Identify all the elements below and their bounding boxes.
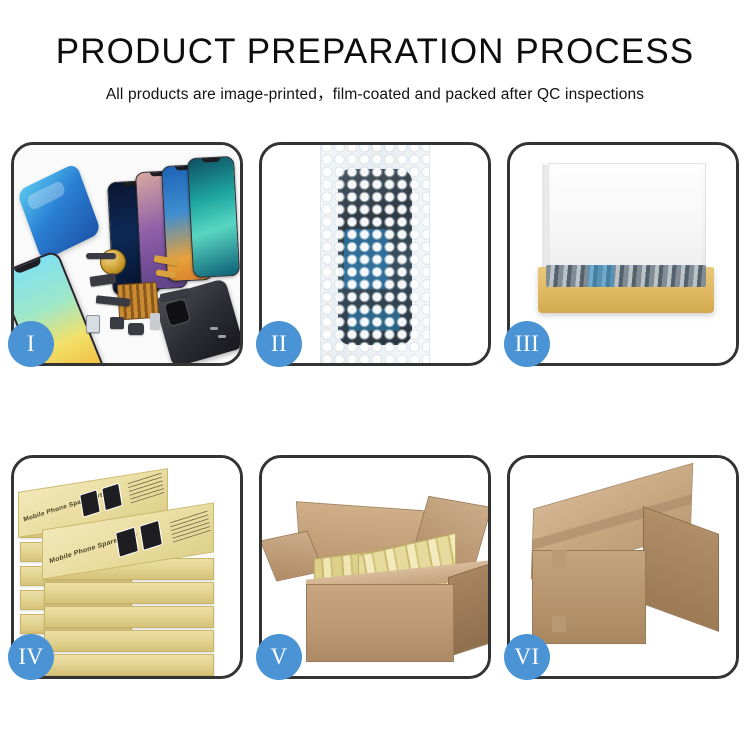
box-phone-image [79, 489, 101, 518]
header: PRODUCT PREPARATION PROCESS All products… [0, 34, 750, 104]
step-panel-5: V [259, 455, 491, 679]
step-panel-2: II [259, 142, 491, 366]
box-phone-image [139, 520, 163, 551]
step-badge-4: IV [8, 634, 54, 680]
box-spec-lines [169, 508, 210, 543]
step-panel-6: VI [507, 455, 739, 679]
sealed-carton-right [643, 506, 719, 632]
step-badge-3: III [504, 321, 550, 367]
phone-screen-4-icon [187, 156, 240, 278]
foam-liner [550, 197, 702, 271]
box-phone-image [115, 527, 139, 558]
kraft-box-side [44, 654, 214, 676]
battery-connector-icon [150, 313, 160, 329]
box-phone-image [101, 483, 123, 512]
step-panel-4: Mobile Phone Spare Parts Mobile Phone Sp… [11, 455, 243, 679]
bubble-texture-front [321, 145, 429, 363]
wrapped-parts-row [546, 265, 706, 287]
phone-back-housing-icon [154, 278, 240, 363]
carton-front-panel [306, 584, 454, 662]
speaker-icon [128, 323, 144, 335]
carton-tape-mark [552, 550, 566, 568]
page-title: PRODUCT PREPARATION PROCESS [0, 34, 750, 71]
screw-icon [210, 327, 218, 330]
box-spec-lines [127, 472, 164, 504]
spare-part-icon [86, 253, 116, 259]
product-preparation-infographic: PRODUCT PREPARATION PROCESS All products… [0, 0, 750, 750]
screw-icon [218, 335, 226, 338]
steps-grid: I II [11, 142, 739, 679]
step-panel-3: III [507, 142, 739, 366]
sim-tray-icon [86, 315, 100, 333]
kraft-box-side [44, 606, 214, 628]
step-badge-1: I [8, 321, 54, 367]
step-badge-2: II [256, 321, 302, 367]
camera-module-icon [110, 317, 124, 329]
kraft-box-side [44, 582, 214, 604]
step-badge-6: VI [504, 634, 550, 680]
step-panel-1: I [11, 142, 243, 366]
step-badge-5: V [256, 634, 302, 680]
carton-side-panel [448, 563, 488, 657]
carton-tape-mark [552, 616, 566, 632]
flexible-oled-panel-icon [17, 163, 102, 262]
kraft-box-side [44, 630, 214, 652]
sealed-carton-front [532, 550, 646, 644]
page-subtitle: All products are image-printed，film-coat… [0, 82, 750, 104]
